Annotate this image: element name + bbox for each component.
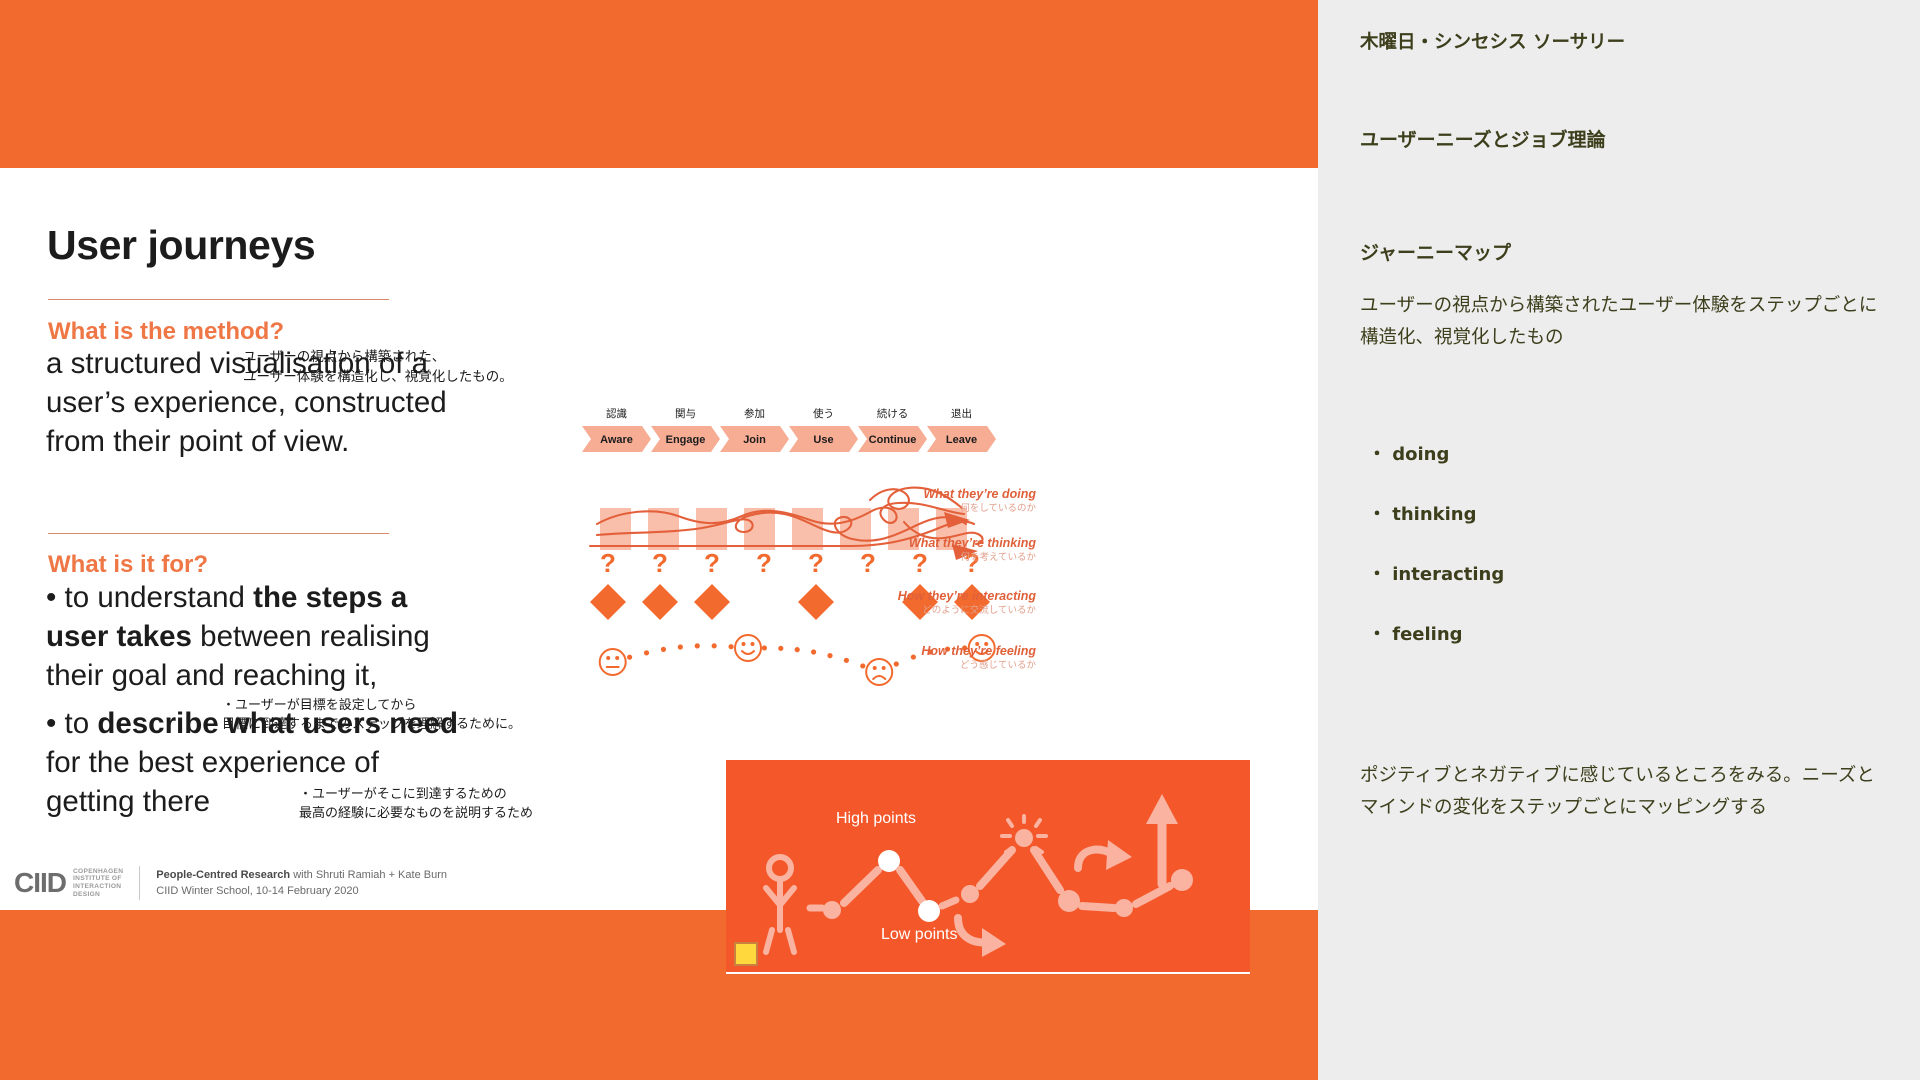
row-label-feeling: How they’re feeling どう感じているか	[884, 644, 1036, 672]
sidebar-paragraph: ユーザーの視点から構築されたユーザー体験をステップごとに構造化、視覚化したもの	[1360, 290, 1886, 354]
high-low-points-image: High points Low points	[726, 760, 1250, 972]
row-label-thinking: What they’re thinking 何を考えているか	[884, 536, 1036, 564]
slide-footer: CIID COPENHAGEN INSTITUTE OF INTERACTION…	[14, 866, 447, 900]
row-label-interacting: How they’re interacting どのように交流しているか	[884, 589, 1036, 617]
credit-people: with Shruti Ramiah + Kate Burn	[290, 869, 447, 881]
bullet-steps: • to understand the steps a user takes b…	[46, 578, 466, 695]
high-low-illustration	[726, 760, 1250, 972]
row-label-feeling-en: How they’re feeling	[884, 644, 1036, 659]
divider-top	[48, 299, 389, 300]
page-title: User journeys	[47, 222, 315, 269]
page-root: User journeys What is the method? a stru…	[0, 0, 1920, 1080]
row-label-thinking-en: What they’re thinking	[884, 536, 1036, 551]
journey-row-labels: What they’re doing 何をしているのか What they’re…	[556, 404, 1036, 684]
list-item: ・ doing	[1360, 440, 1886, 466]
row-label-doing-en: What they’re doing	[884, 487, 1036, 502]
list-item: ・ interacting	[1360, 560, 1886, 586]
footer-credit: People-Centred Research with Shruti Rami…	[156, 867, 447, 899]
jp-annotation-needs: ・ユーザーがそこに到達するための 最高の経験に必要なものを説明するため	[299, 786, 533, 824]
list-item: ・ feeling	[1360, 620, 1886, 646]
slide-top-orange-band	[0, 0, 1318, 168]
slide-canvas: User journeys What is the method? a stru…	[0, 0, 1318, 1080]
ciid-logo: CIID	[14, 869, 66, 897]
jp-annotation-steps: ・ユーザーが目標を設定してから 目標に到達するまでのステップを理解するために。	[222, 697, 521, 735]
row-label-interacting-en: How they’re interacting	[884, 589, 1036, 604]
list-item: ・ thinking	[1360, 500, 1886, 526]
sidebar-topic: ユーザーニーズとジョブ理論	[1360, 125, 1886, 152]
jp-annotation-method: ユーザーの視点から構築された、 ユーザー体験を構造化し、視覚化したもの。	[243, 348, 513, 387]
footer-divider	[139, 866, 140, 900]
sidebar-date-line: 木曜日・シンセシス ソーサリー	[1360, 28, 1886, 54]
row-label-doing-jp: 何をしているのか	[884, 502, 1036, 515]
section-heading-purpose: What is it for?	[48, 551, 208, 579]
sidebar-list: ・ doing ・ thinking ・ interacting ・ feeli…	[1360, 440, 1886, 680]
row-label-interacting-jp: どのように交流しているか	[884, 604, 1036, 617]
row-label-feeling-jp: どう感じているか	[884, 659, 1036, 672]
credit-session: CIID Winter School, 10-14 February 2020	[156, 883, 447, 899]
section-heading-method: What is the method?	[48, 318, 284, 346]
sidebar-paragraph-2: ポジティブとネガティブに感じているところをみる。ニーズとマインドの変化をステップ…	[1360, 760, 1886, 824]
row-label-thinking-jp: 何を考えているか	[884, 551, 1036, 564]
high-points-label: High points	[836, 810, 916, 828]
slide-resize-handle[interactable]	[734, 942, 758, 966]
image-underline	[726, 972, 1250, 974]
row-label-doing: What they’re doing 何をしているのか	[884, 487, 1036, 515]
notes-sidebar: 木曜日・シンセシス ソーサリー ユーザーニーズとジョブ理論 ジャーニーマップ ユ…	[1318, 0, 1920, 1080]
sidebar-heading: ジャーニーマップ	[1360, 238, 1886, 265]
ciid-logo-wordmark: COPENHAGEN INSTITUTE OF INTERACTION DESI…	[73, 868, 123, 898]
low-points-label: Low points	[881, 926, 958, 944]
credit-course: People-Centred Research	[156, 869, 290, 881]
divider-bottom	[48, 533, 389, 534]
